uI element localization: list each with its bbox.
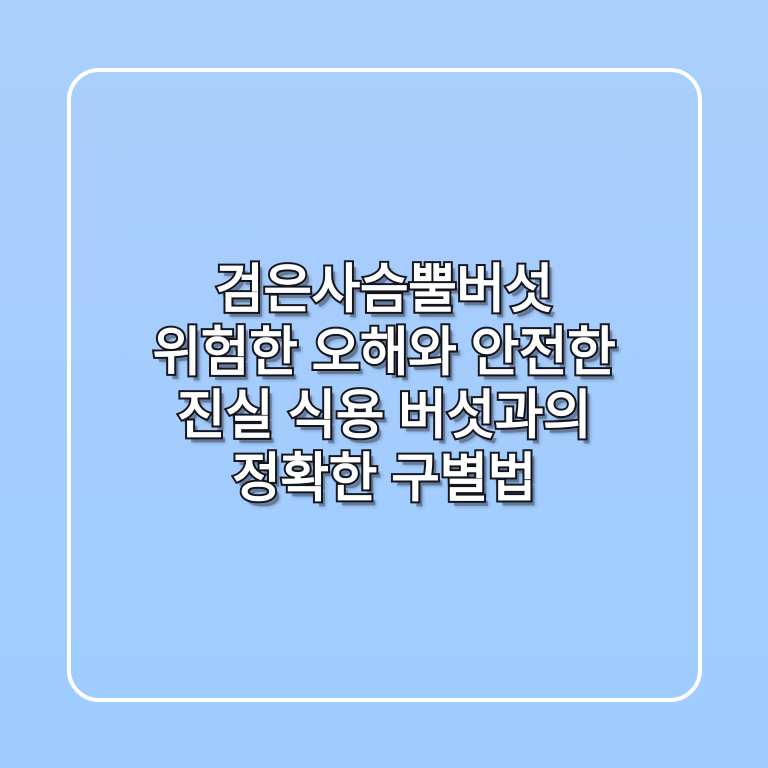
title-line-2: 위험한 오해와 안전한 <box>153 321 616 384</box>
title-line-4: 정확한 구별법 <box>232 447 536 510</box>
title-line-1: 검은사슴뿔버섯 <box>215 258 553 321</box>
title-line-3: 진실 식용 버섯과의 <box>177 384 592 447</box>
title-block: 검은사슴뿔버섯 위험한 오해와 안전한 진실 식용 버섯과의 정확한 구별법 <box>0 0 768 768</box>
thumbnail-card: 검은사슴뿔버섯 위험한 오해와 안전한 진실 식용 버섯과의 정확한 구별법 <box>0 0 768 768</box>
